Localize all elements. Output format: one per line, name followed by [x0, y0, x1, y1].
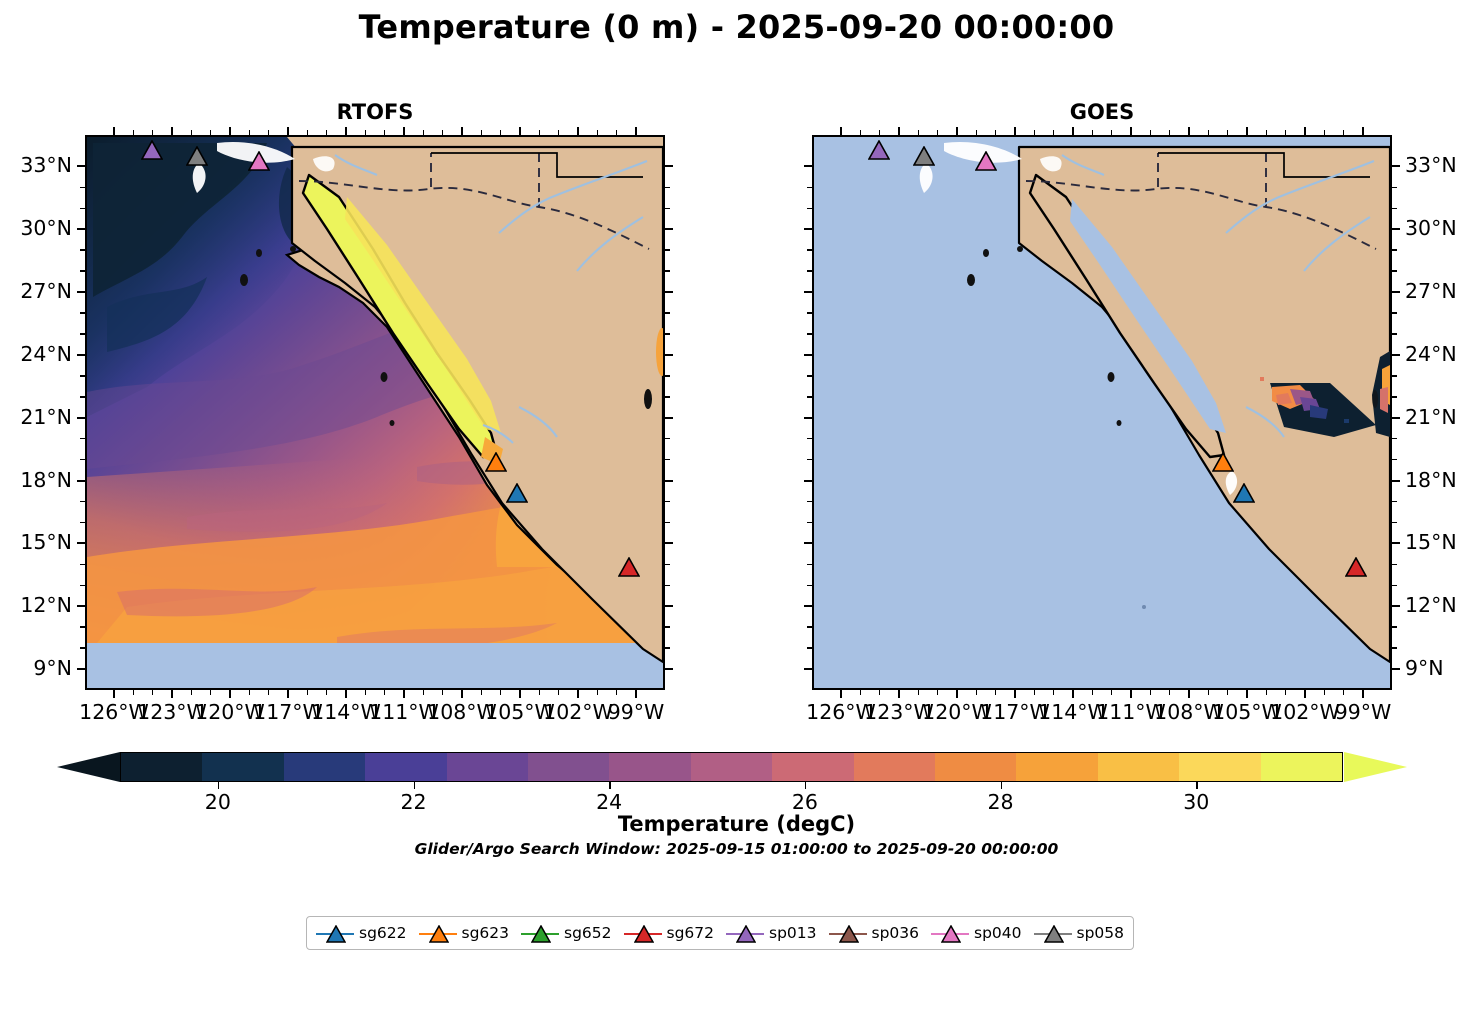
lon-minor-tick	[1034, 690, 1036, 695]
lon-tick-top	[345, 127, 347, 135]
lon-tick	[519, 690, 521, 698]
lat-minor-tick-opposite	[807, 396, 812, 398]
lat-minor-tick-opposite	[665, 647, 670, 649]
lon-tick	[171, 690, 173, 698]
marker-sp013-rtofs[interactable]	[141, 140, 163, 160]
lon-minor-tick-top	[307, 130, 309, 135]
marker-sp040-goes[interactable]	[975, 151, 997, 171]
lat-minor-tick-opposite	[807, 270, 812, 272]
legend-marker-sp036	[829, 922, 867, 944]
lon-minor-tick	[1208, 690, 1210, 695]
colorbar[interactable]: 202224262830	[57, 752, 1407, 782]
map-panel-rtofs[interactable]	[85, 135, 665, 690]
legend-label: sp013	[769, 924, 817, 942]
lat-tick-opposite	[804, 542, 812, 544]
lat-tick-label: 9°N	[1405, 656, 1444, 680]
lat-minor-tick-opposite	[665, 501, 670, 503]
colorbar-band-0	[121, 753, 202, 781]
marker-sg623-goes[interactable]	[1212, 452, 1234, 472]
lat-minor-tick-opposite	[665, 312, 670, 314]
legend-marker-sg652	[521, 922, 559, 944]
lat-minor-tick	[1392, 312, 1397, 314]
lat-minor-tick-opposite	[665, 333, 670, 335]
lat-tick-opposite	[804, 165, 812, 167]
lon-tick-top	[1304, 127, 1306, 135]
legend-item-sg623[interactable]: sg623	[419, 922, 510, 944]
lon-minor-tick-top	[597, 130, 599, 135]
lat-minor-tick-opposite	[665, 564, 670, 566]
lat-minor-tick	[1392, 585, 1397, 587]
lon-minor-tick	[597, 690, 599, 695]
lon-minor-tick	[558, 690, 560, 695]
lat-minor-tick	[1392, 208, 1397, 210]
colorbar-label: Temperature (degC)	[0, 812, 1473, 836]
lat-tick	[77, 354, 85, 356]
colorbar-tick-label: 30	[1183, 790, 1209, 814]
colorbar-band-11	[1016, 753, 1097, 781]
colorbar-tick	[805, 782, 807, 789]
lon-minor-tick-top	[365, 130, 367, 135]
lon-tick-top	[1072, 127, 1074, 135]
lon-tick	[635, 690, 637, 698]
lat-tick-opposite	[665, 480, 673, 482]
lon-minor-tick	[423, 690, 425, 695]
lon-minor-tick	[1343, 690, 1345, 695]
lat-tick-opposite	[665, 605, 673, 607]
lon-tick	[898, 690, 900, 698]
lon-minor-tick	[1266, 690, 1268, 695]
lat-tick-label: 24°N	[20, 342, 72, 366]
lon-minor-tick-top	[249, 130, 251, 135]
lat-minor-tick-opposite	[665, 459, 670, 461]
lon-minor-tick-top	[1208, 130, 1210, 135]
lat-minor-tick-opposite	[665, 249, 670, 251]
marker-sg672-goes[interactable]	[1345, 557, 1367, 577]
lat-tick-opposite	[665, 291, 673, 293]
lat-tick-opposite	[665, 417, 673, 419]
lat-tick-label: 27°N	[1405, 279, 1457, 303]
lon-minor-tick	[995, 690, 997, 695]
panel-title-rtofs: RTOFS	[85, 100, 665, 124]
lat-minor-tick	[1392, 564, 1397, 566]
lon-minor-tick-top	[616, 130, 618, 135]
colorbar-band-3	[365, 753, 446, 781]
lon-tick-label: 102°W	[1270, 700, 1340, 724]
lat-tick-opposite	[804, 668, 812, 670]
legend-marker-sg623	[419, 922, 457, 944]
colorbar-band-8	[772, 753, 853, 781]
lat-minor-tick	[1392, 626, 1397, 628]
lat-minor-tick-opposite	[807, 333, 812, 335]
goes-sst-field	[814, 137, 1390, 688]
lon-minor-tick-top	[558, 130, 560, 135]
lat-minor-tick	[80, 208, 85, 210]
colorbar-band-5	[528, 753, 609, 781]
lat-minor-tick-opposite	[807, 208, 812, 210]
marker-sp058-goes[interactable]	[913, 146, 935, 166]
lon-minor-tick-top	[539, 130, 541, 135]
lat-minor-tick	[1392, 647, 1397, 649]
lon-minor-tick-top	[1266, 130, 1268, 135]
lat-tick-opposite	[804, 291, 812, 293]
lat-minor-tick-opposite	[807, 585, 812, 587]
map-panel-goes[interactable]	[812, 135, 1392, 690]
lon-minor-tick-top	[860, 130, 862, 135]
marker-sg672-rtofs[interactable]	[618, 557, 640, 577]
legend-label: sg652	[564, 924, 612, 942]
lat-minor-tick-opposite	[665, 438, 670, 440]
marker-sp013-goes[interactable]	[868, 140, 890, 160]
lat-tick-opposite	[665, 165, 673, 167]
lat-tick-opposite	[665, 228, 673, 230]
lat-tick	[1392, 542, 1400, 544]
lon-tick-top	[1188, 127, 1190, 135]
lat-tick-opposite	[804, 480, 812, 482]
lon-minor-tick-top	[481, 130, 483, 135]
rtofs-sst-field	[87, 137, 663, 688]
lat-tick-label: 12°N	[1405, 593, 1457, 617]
lat-tick-opposite	[804, 354, 812, 356]
lat-tick	[77, 605, 85, 607]
lon-minor-tick	[1227, 690, 1229, 695]
lon-tick-top	[403, 127, 405, 135]
colorbar-band-1	[202, 753, 283, 781]
lon-minor-tick-top	[1285, 130, 1287, 135]
marker-sg622-goes[interactable]	[1233, 483, 1255, 503]
lat-tick-opposite	[665, 668, 673, 670]
lon-tick	[577, 690, 579, 698]
lat-minor-tick-opposite	[665, 396, 670, 398]
colorbar-band-6	[609, 753, 690, 781]
lon-minor-tick	[937, 690, 939, 695]
lon-tick	[840, 690, 842, 698]
lon-tick-label: 102°W	[543, 700, 613, 724]
lon-minor-tick-top	[937, 130, 939, 135]
lon-minor-tick	[539, 690, 541, 695]
legend-marker-sg672	[624, 922, 662, 944]
lon-minor-tick-top	[1169, 130, 1171, 135]
legend-item-sp058[interactable]: sp058	[1034, 922, 1125, 944]
lon-tick	[1304, 690, 1306, 698]
marker-sp058-rtofs[interactable]	[186, 146, 208, 166]
lat-minor-tick	[1392, 459, 1397, 461]
lat-tick-label: 21°N	[20, 405, 72, 429]
lat-minor-tick-opposite	[807, 564, 812, 566]
lon-minor-tick-top	[133, 130, 135, 135]
lat-minor-tick-opposite	[807, 312, 812, 314]
legend-item-sg622[interactable]: sg622	[316, 922, 407, 944]
lat-tick	[77, 165, 85, 167]
lon-tick	[956, 690, 958, 698]
lon-minor-tick	[879, 690, 881, 695]
colorbar-extend-high	[1344, 752, 1407, 782]
lon-minor-tick	[1169, 690, 1171, 695]
colorbar-tick	[1001, 782, 1003, 789]
lon-tick-top	[229, 127, 231, 135]
lon-tick	[461, 690, 463, 698]
lat-tick-opposite	[804, 228, 812, 230]
lon-tick	[229, 690, 231, 698]
lon-tick-top	[1130, 127, 1132, 135]
lon-minor-tick-top	[1324, 130, 1326, 135]
lon-minor-tick	[1150, 690, 1152, 695]
lat-minor-tick-opposite	[807, 438, 812, 440]
legend-item-sp036[interactable]: sp036	[829, 922, 920, 944]
lat-tick-label: 18°N	[20, 468, 72, 492]
lat-tick-label: 12°N	[20, 593, 72, 617]
lat-tick	[77, 480, 85, 482]
lon-tick	[1246, 690, 1248, 698]
lat-minor-tick-opposite	[807, 647, 812, 649]
marker-sg622-rtofs[interactable]	[506, 483, 528, 503]
lat-minor-tick-opposite	[807, 626, 812, 628]
lat-minor-tick	[1392, 270, 1397, 272]
lat-tick	[1392, 291, 1400, 293]
lon-tick-top	[577, 127, 579, 135]
lat-tick	[1392, 417, 1400, 419]
lat-tick	[77, 417, 85, 419]
lat-tick-label: 30°N	[20, 216, 72, 240]
lat-tick-label: 9°N	[33, 656, 72, 680]
colorbar-band-10	[935, 753, 1016, 781]
lat-tick	[77, 668, 85, 670]
lon-tick-top	[287, 127, 289, 135]
lon-tick	[1362, 690, 1364, 698]
colorbar-gradient	[120, 752, 1343, 782]
lon-minor-tick-top	[879, 130, 881, 135]
lat-tick	[1392, 480, 1400, 482]
lat-tick	[1392, 354, 1400, 356]
lat-minor-tick-opposite	[665, 626, 670, 628]
colorbar-band-9	[854, 753, 935, 781]
lon-tick	[287, 690, 289, 698]
lon-minor-tick	[481, 690, 483, 695]
lat-tick	[1392, 668, 1400, 670]
lon-tick-top	[1014, 127, 1016, 135]
lat-minor-tick	[80, 396, 85, 398]
lat-minor-tick	[80, 585, 85, 587]
lon-minor-tick-top	[191, 130, 193, 135]
lon-tick-label: 99°W	[1335, 700, 1392, 724]
lat-tick-label: 33°N	[1405, 153, 1457, 177]
lat-minor-tick-opposite	[807, 375, 812, 377]
lat-minor-tick-opposite	[665, 522, 670, 524]
lat-minor-tick	[1392, 333, 1397, 335]
lat-tick	[77, 228, 85, 230]
lon-minor-tick-top	[500, 130, 502, 135]
lat-tick-label: 24°N	[1405, 342, 1457, 366]
lon-minor-tick	[500, 690, 502, 695]
lat-minor-tick	[80, 187, 85, 189]
lat-minor-tick	[80, 647, 85, 649]
lat-minor-tick-opposite	[807, 501, 812, 503]
lat-minor-tick-opposite	[665, 375, 670, 377]
colorbar-tick-label: 22	[400, 790, 426, 814]
lat-tick-opposite	[665, 542, 673, 544]
lon-tick-top	[1246, 127, 1248, 135]
colorbar-band-4	[447, 753, 528, 781]
lon-minor-tick-top	[442, 130, 444, 135]
legend-marker-sp058	[1034, 922, 1072, 944]
marker-sp040-rtofs[interactable]	[248, 151, 270, 171]
lat-minor-tick-opposite	[665, 187, 670, 189]
lon-tick-top	[956, 127, 958, 135]
lon-minor-tick	[1053, 690, 1055, 695]
lat-minor-tick	[80, 312, 85, 314]
colorbar-band-13	[1179, 753, 1260, 781]
lon-minor-tick	[1285, 690, 1287, 695]
lat-minor-tick	[80, 626, 85, 628]
lon-tick	[113, 690, 115, 698]
lat-minor-tick	[80, 438, 85, 440]
lat-minor-tick	[80, 270, 85, 272]
colorbar-extend-low	[57, 752, 120, 782]
colorbar-band-12	[1098, 753, 1179, 781]
lon-tick	[1188, 690, 1190, 698]
platform-legend[interactable]: sg622sg623sg652sg672sp013sp036sp040sp058	[306, 916, 1134, 950]
lon-minor-tick	[384, 690, 386, 695]
lat-minor-tick	[80, 249, 85, 251]
lon-minor-tick	[191, 690, 193, 695]
legend-label: sp036	[872, 924, 920, 942]
lon-tick	[1072, 690, 1074, 698]
legend-marker-sg622	[316, 922, 354, 944]
legend-label: sg672	[667, 924, 715, 942]
lat-minor-tick	[1392, 396, 1397, 398]
lat-tick-label: 33°N	[20, 153, 72, 177]
lon-minor-tick-top	[1111, 130, 1113, 135]
colorbar-tick	[1196, 782, 1198, 789]
lat-minor-tick	[1392, 522, 1397, 524]
colorbar-band-7	[691, 753, 772, 781]
lat-tick	[1392, 165, 1400, 167]
lat-minor-tick	[1392, 501, 1397, 503]
lon-minor-tick	[616, 690, 618, 695]
lon-minor-tick	[1092, 690, 1094, 695]
lon-tick-top	[898, 127, 900, 135]
lon-minor-tick-top	[326, 130, 328, 135]
lon-minor-tick	[307, 690, 309, 695]
lat-tick-opposite	[665, 354, 673, 356]
colorbar-band-14	[1261, 753, 1342, 781]
lon-minor-tick	[152, 690, 154, 695]
lat-tick-opposite	[804, 417, 812, 419]
legend-label: sp040	[974, 924, 1022, 942]
lon-minor-tick-top	[1343, 130, 1345, 135]
lon-minor-tick	[860, 690, 862, 695]
lat-tick	[1392, 605, 1400, 607]
lat-minor-tick-opposite	[807, 459, 812, 461]
lon-tick-top	[1362, 127, 1364, 135]
legend-item-sp013[interactable]: sp013	[726, 922, 817, 944]
lat-minor-tick-opposite	[807, 249, 812, 251]
lat-minor-tick-opposite	[807, 522, 812, 524]
lon-minor-tick	[1111, 690, 1113, 695]
lat-tick-label: 30°N	[1405, 216, 1457, 240]
lon-minor-tick	[326, 690, 328, 695]
lon-minor-tick	[133, 690, 135, 695]
legend-item-sg652[interactable]: sg652	[521, 922, 612, 944]
lon-tick	[345, 690, 347, 698]
colorbar-tick	[609, 782, 611, 789]
lat-minor-tick-opposite	[665, 585, 670, 587]
lat-minor-tick	[80, 333, 85, 335]
lat-minor-tick	[80, 564, 85, 566]
lon-minor-tick-top	[210, 130, 212, 135]
legend-item-sg672[interactable]: sg672	[624, 922, 715, 944]
colorbar-band-2	[284, 753, 365, 781]
legend-label: sp058	[1077, 924, 1125, 942]
lon-tick	[403, 690, 405, 698]
lon-minor-tick-top	[1150, 130, 1152, 135]
lon-minor-tick	[365, 690, 367, 695]
figure-title: Temperature (0 m) - 2025-09-20 00:00:00	[0, 8, 1473, 46]
legend-label: sg622	[359, 924, 407, 942]
lat-tick	[77, 291, 85, 293]
lon-tick	[1130, 690, 1132, 698]
lon-minor-tick-top	[423, 130, 425, 135]
lon-tick-top	[519, 127, 521, 135]
lon-tick-top	[461, 127, 463, 135]
lon-minor-tick	[268, 690, 270, 695]
lat-tick-label: 15°N	[20, 530, 72, 554]
lon-tick-top	[635, 127, 637, 135]
lon-minor-tick-top	[384, 130, 386, 135]
lon-minor-tick-top	[976, 130, 978, 135]
lon-minor-tick	[1324, 690, 1326, 695]
lon-tick-label: 99°W	[608, 700, 665, 724]
lat-minor-tick	[1392, 249, 1397, 251]
marker-sg623-rtofs[interactable]	[485, 452, 507, 472]
lat-tick-opposite	[804, 605, 812, 607]
lat-tick	[77, 542, 85, 544]
lat-tick-label: 21°N	[1405, 405, 1457, 429]
lon-minor-tick	[918, 690, 920, 695]
colorbar-tick-label: 20	[205, 790, 231, 814]
lat-minor-tick-opposite	[807, 187, 812, 189]
legend-label: sg623	[462, 924, 510, 942]
lon-minor-tick	[210, 690, 212, 695]
lon-minor-tick	[976, 690, 978, 695]
lat-minor-tick	[80, 459, 85, 461]
lon-tick-top	[840, 127, 842, 135]
lat-tick-label: 18°N	[1405, 468, 1457, 492]
panel-title-goes: GOES	[812, 100, 1392, 124]
lon-minor-tick-top	[1053, 130, 1055, 135]
colorbar-tick	[414, 782, 416, 789]
lat-minor-tick	[1392, 438, 1397, 440]
lon-minor-tick	[249, 690, 251, 695]
lon-minor-tick-top	[995, 130, 997, 135]
lat-tick-label: 27°N	[20, 279, 72, 303]
legend-item-sp040[interactable]: sp040	[931, 922, 1022, 944]
lat-minor-tick	[1392, 187, 1397, 189]
lat-tick-label: 15°N	[1405, 530, 1457, 554]
lon-tick-top	[113, 127, 115, 135]
lat-minor-tick	[80, 522, 85, 524]
lat-minor-tick-opposite	[665, 270, 670, 272]
colorbar-tick	[218, 782, 220, 789]
lat-minor-tick-opposite	[665, 208, 670, 210]
lon-minor-tick-top	[1034, 130, 1036, 135]
lon-minor-tick-top	[152, 130, 154, 135]
lat-tick	[1392, 228, 1400, 230]
colorbar-tick-label: 28	[988, 790, 1014, 814]
lon-tick	[1014, 690, 1016, 698]
lat-minor-tick	[1392, 375, 1397, 377]
legend-marker-sp013	[726, 922, 764, 944]
lon-minor-tick	[442, 690, 444, 695]
